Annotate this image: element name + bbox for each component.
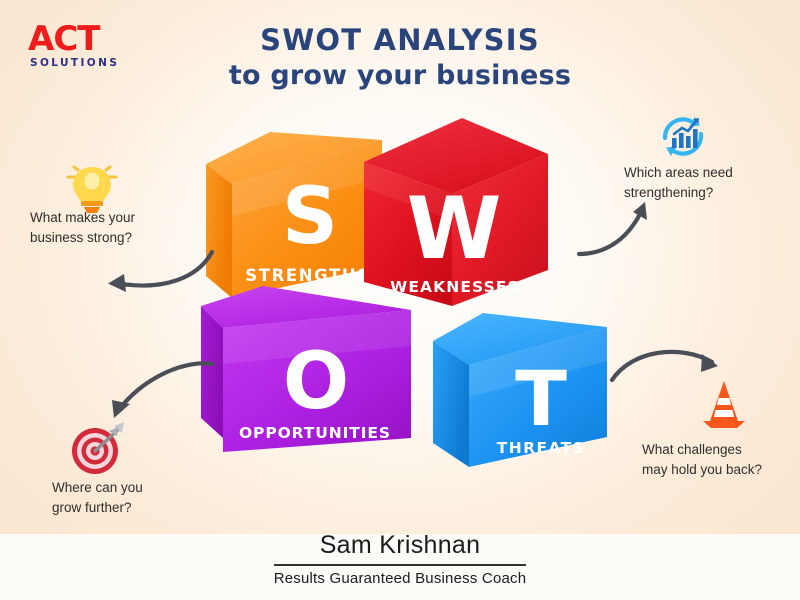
cube-threats[interactable]: T THREATS <box>425 305 620 480</box>
footer: Sam Krishnan Results Guaranteed Business… <box>0 530 800 587</box>
callout-opportunities: Where can you grow further? <box>52 478 212 517</box>
page-title: SWOT ANALYSIS to grow your business <box>170 22 630 93</box>
logo-tagline: SOLUTIONS <box>30 58 148 69</box>
cube-letter-weaknesses: W <box>407 179 502 279</box>
footer-name: Sam Krishnan <box>0 530 800 561</box>
cube-letter-threats: T <box>515 354 567 443</box>
title-primary: SWOT ANALYSIS <box>170 22 630 58</box>
footer-divider <box>274 564 526 566</box>
arrow-to-strengths <box>86 248 216 296</box>
cube-letter-strengths: S <box>282 172 338 262</box>
cube-letter-opportunities: O <box>283 337 349 427</box>
cube-label-opportunities: OPPORTUNITIES <box>239 424 391 442</box>
arrow-to-threats <box>608 344 733 394</box>
growth-chart-refresh-icon <box>655 108 711 164</box>
title-secondary: to grow your business <box>170 58 630 93</box>
arrow-to-weaknesses <box>575 196 695 258</box>
footer-role: Results Guaranteed Business Coach <box>0 570 800 587</box>
cube-opportunities[interactable]: O OPPORTUNITIES <box>195 280 425 475</box>
arrow-to-opportunities <box>100 352 220 422</box>
target-dart-icon <box>68 420 130 478</box>
cube-label-threats: THREATS <box>497 439 585 457</box>
callout-strengths: What makes your business strong? <box>30 208 190 247</box>
swot-infographic: ACT SOLUTIONS SWOT ANALYSIS to grow your… <box>0 0 800 600</box>
callout-threats-text: What challenges may hold you back? <box>642 440 800 479</box>
logo-wordmark: ACT <box>28 22 148 56</box>
act-solutions-logo[interactable]: ACT SOLUTIONS <box>28 22 148 69</box>
callout-threats: What challenges may hold you back? <box>642 440 800 479</box>
callout-opportunities-text: Where can you grow further? <box>52 478 212 517</box>
callout-strengths-text: What makes your business strong? <box>30 208 190 247</box>
